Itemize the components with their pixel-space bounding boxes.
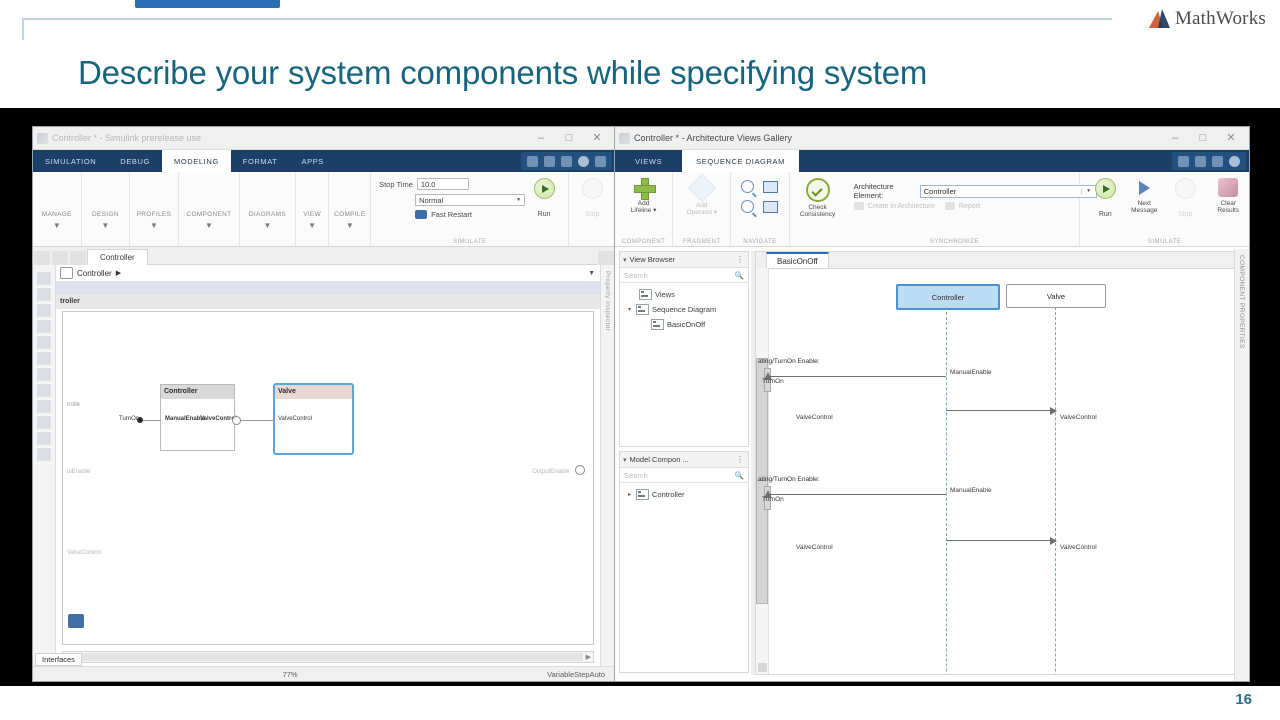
search-icon[interactable]: 🔍 — [735, 271, 744, 280]
message-manualenable-1[interactable] — [768, 376, 946, 377]
port-icon[interactable] — [37, 320, 51, 333]
undo-icon[interactable] — [1195, 156, 1206, 167]
stop-icon — [582, 178, 603, 199]
stop-label: Stop — [1178, 211, 1192, 218]
chevron-down-icon[interactable]: ▼ — [264, 221, 272, 230]
collapse-icon[interactable]: ▾ — [623, 456, 627, 464]
minimize-icon[interactable]: – — [535, 133, 547, 144]
status-solver: VariableStepAuto — [547, 670, 615, 679]
input-port-marker — [137, 417, 143, 423]
quick-access-toolbar[interactable] — [521, 152, 612, 170]
avg-ribbon-tabs: VIEWS SEQUENCE DIAGRAM — [615, 150, 1249, 172]
breadcrumb[interactable]: Controller ▶ ▼ — [56, 265, 600, 282]
wire-mid — [235, 420, 275, 421]
model-components-panel: ▾ Model Compon ... ⋮ Search 🔍 ▸ Controll… — [619, 451, 749, 673]
slide-top-rule-vertical — [22, 18, 24, 40]
annotation-1: ating/TurnOn Enable: — [758, 358, 820, 365]
ribbon-group-manage-label: MANAGE — [42, 211, 72, 218]
play-icon — [1095, 178, 1116, 199]
simulink-ribbon-tabs: SIMULATION DEBUG MODELING FORMAT APPS — [33, 150, 615, 172]
slide-top-accent-tab — [135, 0, 280, 8]
chevron-down-icon[interactable]: ▼ — [150, 221, 158, 230]
ribbon-group-simulate: Run Next Message Stop Clear Results SIMU… — [1080, 172, 1249, 246]
tree-item-controller[interactable]: ▸ Controller — [623, 487, 745, 502]
tree-item-views[interactable]: Views — [623, 287, 745, 302]
ribbon-group-diagrams[interactable]: DIAGRAMS ▼ — [240, 172, 296, 246]
status-zoom: 77% — [283, 670, 298, 679]
chevron-down-icon[interactable]: ▼ — [308, 221, 316, 230]
run-button[interactable]: Run — [527, 178, 561, 218]
avg-title-text: Controller * - Architecture Views Galler… — [634, 133, 792, 143]
slide-top-rule — [22, 18, 1112, 20]
synchronize-actions: Create in Architecture Report — [854, 202, 980, 210]
slide-root: MathWorks Describe your system component… — [0, 0, 1280, 720]
stop-button[interactable]: Stop — [575, 178, 609, 218]
collapse-icon[interactable]: ▾ — [623, 256, 627, 264]
message-manualenable-2[interactable] — [768, 494, 946, 495]
simulate-group-label: SIMULATE — [371, 239, 568, 245]
architecture-element-label: Architecture Element: — [854, 182, 917, 200]
message-label-turnon-1: TurnOn — [762, 378, 784, 385]
avg-body: ▾ View Browser ⋮ Search 🔍 Views ▾ — [615, 249, 1249, 681]
canvas-left-label: trolle — [67, 402, 80, 408]
component-properties-label: COMPONENT PROPERTIES — [1238, 255, 1245, 349]
tab-format[interactable]: FORMAT — [231, 150, 290, 172]
block-controller-title: Controller — [161, 385, 234, 399]
simulink-app-icon — [37, 133, 48, 144]
simulink-ribbon: MANAGE ▼ DESIGN ▼ PROFILES ▼ COMPONENT ▼… — [33, 172, 615, 247]
ribbon-group-component: Add Lifeline ▾ COMPONENT — [615, 172, 673, 246]
close-icon[interactable]: ✕ — [591, 133, 603, 144]
block-valve-title: Valve — [275, 385, 352, 399]
scroll-right-icon[interactable]: ▶ — [586, 653, 591, 661]
maximize-icon[interactable]: □ — [563, 133, 575, 144]
message-label-turnon-2: TurnOn — [762, 496, 784, 503]
canvas-stray-label-1: uiEnable — [67, 469, 90, 475]
fit-to-view-icon[interactable] — [37, 272, 51, 285]
resize-handle[interactable] — [758, 663, 767, 672]
view-browser-search-placeholder: Search — [624, 271, 648, 280]
canvas-inner-frame: Controller Valve TurnOn ManualEnable Val… — [62, 311, 594, 645]
lifeline-valve-line — [1055, 307, 1056, 675]
check-consistency-button[interactable]: Check Consistency — [790, 174, 846, 219]
stop-time-row: Stop Time 10.0 — [379, 178, 469, 190]
clear-results-icon — [1218, 178, 1238, 197]
clear-results-label: Clear Results — [1217, 200, 1239, 215]
clear-results-button[interactable]: Clear Results — [1208, 178, 1248, 215]
save-icon[interactable] — [527, 156, 538, 167]
component-icon — [636, 489, 649, 500]
diamond-icon — [688, 174, 716, 202]
sequence-diagram-icon — [636, 304, 649, 315]
ribbon-group-component[interactable]: COMPONENT ▼ — [179, 172, 240, 246]
simulink-window: Controller * - Simulink prerelease use –… — [32, 126, 616, 682]
next-message-button[interactable]: Next Message — [1124, 178, 1164, 215]
wire-in — [143, 420, 161, 421]
message-valvecontrol-2[interactable] — [946, 540, 1056, 541]
stop-time-label: Stop Time — [379, 180, 413, 189]
tree-item-basiconoff[interactable]: BasicOnOff — [623, 317, 745, 332]
breadcrumb-label: Controller — [77, 269, 112, 278]
tree-item-sequence-diagram[interactable]: ▾ Sequence Diagram — [623, 302, 745, 317]
mathworks-logo: MathWorks — [1148, 8, 1266, 30]
maximize-icon[interactable]: □ — [1197, 133, 1209, 144]
message-valvecontrol-1[interactable] — [946, 410, 1056, 411]
architecture-element-value: Controller — [924, 187, 1081, 196]
help-icon[interactable] — [595, 156, 606, 167]
ribbon-group-simulate: Stop Time 10.0 Normal Fast Restart Run S… — [371, 172, 569, 246]
lifeline-valve[interactable]: Valve — [1006, 284, 1106, 308]
tab-sequence-diagram[interactable]: SEQUENCE DIAGRAM — [682, 150, 799, 172]
message-label-manualenable-2: ManualEnable — [950, 487, 992, 494]
fit-to-view-icon[interactable] — [763, 181, 778, 193]
scroll-thumb[interactable] — [73, 653, 582, 661]
chevron-down-icon[interactable]: ▾ — [626, 306, 633, 313]
next-message-icon — [1135, 178, 1154, 197]
ribbon-group-synchronize: Check Consistency Architecture Element: … — [790, 172, 1081, 246]
state-icon[interactable] — [37, 352, 51, 365]
fast-restart-toggle[interactable]: Fast Restart — [415, 210, 472, 219]
simulink-status-bar: 77% VariableStepAuto — [33, 666, 615, 681]
run-label: Run — [538, 211, 551, 218]
ribbon-group-profiles[interactable]: PROFILES ▼ — [130, 172, 179, 246]
property-inspector-label: Property Inspector — [604, 271, 611, 331]
redo-icon[interactable] — [561, 156, 572, 167]
ribbon-group-diagrams-label: DIAGRAMS — [249, 211, 286, 218]
zoom-icon[interactable] — [37, 288, 51, 301]
model-icon — [60, 267, 73, 279]
tab-modeling[interactable]: MODELING — [162, 150, 231, 172]
port-label-valvecontrol-in: ValveControl — [278, 416, 312, 422]
zoom-out-icon[interactable] — [741, 200, 754, 213]
redo-icon[interactable] — [1212, 156, 1223, 167]
undo-icon[interactable] — [544, 156, 555, 167]
view-browser-tree: Views ▾ Sequence Diagram BasicOnOff — [620, 283, 748, 336]
component-group-label: COMPONENT — [615, 239, 672, 245]
component-properties-rail[interactable]: COMPONENT PROPERTIES — [1234, 249, 1249, 681]
simulink-title-text: Controller * - Simulink prerelease use — [52, 133, 201, 143]
create-in-architecture-icon[interactable] — [854, 202, 864, 210]
add-lifeline-label: Add Lifeline ▾ — [631, 200, 657, 215]
check-consistency-label: Check Consistency — [800, 204, 835, 219]
arrow-head-icon — [1050, 407, 1057, 415]
message-label-valvecontrol-2b: ValveControl — [1060, 544, 1097, 551]
message-label-valvecontrol-1a: ValveControl — [796, 414, 833, 421]
canvas-stray-label-3: OutputEnable — [532, 469, 569, 475]
ribbon-group-design[interactable]: DESIGN ▼ — [82, 172, 131, 246]
navigate-buttons — [741, 180, 778, 213]
architecture-views-gallery-window: Controller * - Architecture Views Galler… — [614, 126, 1250, 682]
ribbon-group-compile[interactable]: COMPILE ▼ — [329, 172, 371, 246]
add-lifeline-button[interactable]: Add Lifeline ▾ — [621, 174, 667, 215]
chevron-down-icon[interactable]: ▼ — [205, 221, 213, 230]
stop-icon — [1175, 178, 1196, 199]
tab-debug[interactable]: DEBUG — [108, 150, 162, 172]
fast-restart-label: Fast Restart — [431, 210, 472, 219]
metrics-icon[interactable] — [37, 448, 51, 461]
lifeline-controller-label: Controller — [932, 293, 965, 302]
message-label-manualenable-1: ManualEnable — [950, 369, 992, 376]
mathworks-membrane-icon — [1148, 8, 1170, 30]
view-icon — [639, 289, 652, 300]
ribbon-group-fragment: Add Operand ▾ FRAGMENT — [673, 172, 731, 246]
ribbon-tab-spacer — [799, 150, 1172, 172]
ribbon-tab-spacer — [336, 150, 521, 172]
analysis-icon[interactable] — [37, 432, 51, 445]
close-icon[interactable]: ✕ — [1225, 133, 1237, 144]
minimize-icon[interactable]: – — [1169, 133, 1181, 144]
tree-item-controller-label: Controller — [652, 490, 685, 499]
tree-item-views-label: Views — [655, 290, 675, 299]
canvas-wrapper: Controller ▶ ▼ troller Controller V — [56, 265, 600, 667]
chevron-down-icon[interactable]: ▼ — [588, 270, 595, 277]
lifeline-controller[interactable]: Controller — [896, 284, 1000, 310]
sequence-diagram-tab-basiconoff[interactable]: BasicOnOff — [766, 252, 829, 268]
simulation-mode-select[interactable]: Normal — [415, 194, 525, 206]
variant-icon[interactable] — [37, 368, 51, 381]
more-options-icon[interactable]: ⋮ — [736, 255, 745, 264]
ribbon-group-stop: Stop — [569, 172, 615, 246]
avg-title-bar: Controller * - Architecture Views Galler… — [615, 127, 1249, 150]
canvas-horizontal-scrollbar[interactable]: ◀ ▶ — [62, 651, 594, 663]
architecture-element-row: Architecture Element: Controller ▼ — [854, 182, 1097, 200]
lifeline-controller-line — [946, 307, 947, 675]
report-icon[interactable] — [945, 202, 955, 210]
simulation-mode-value: Normal — [419, 196, 443, 205]
slide-number: 16 — [1235, 691, 1252, 708]
canvas-subheader: troller — [56, 295, 600, 309]
ribbon-group-compile-label: COMPILE — [334, 211, 365, 218]
next-message-label: Next Message — [1131, 200, 1157, 215]
model-tab-strip: Controller — [33, 247, 615, 266]
back-icon[interactable] — [34, 251, 50, 265]
message-label-valvecontrol-2a: ValveControl — [796, 544, 833, 551]
simulink-canvas[interactable]: troller Controller Valve TurnOn ManualEn… — [56, 281, 600, 667]
up-icon[interactable] — [70, 251, 86, 265]
ribbon-group-profiles-label: PROFILES — [137, 211, 172, 218]
interface-icon[interactable] — [37, 336, 51, 349]
view-browser-title: View Browser — [630, 255, 676, 264]
more-options-icon[interactable]: ⋮ — [736, 455, 745, 464]
fast-restart-icon — [415, 210, 427, 219]
stop-label: Stop — [585, 211, 599, 218]
editor-toolstrip-left — [33, 265, 56, 667]
interfaces-tab[interactable]: Interfaces — [35, 653, 82, 666]
sequence-diagram-canvas[interactable]: BasicOnOff Controller Valve ating/ — [755, 251, 1247, 675]
lifeline-valve-label: Valve — [1047, 292, 1065, 301]
navigate-group-label: NAVIGATE — [731, 239, 788, 245]
simulink-editor-body: Controller ▶ ▼ troller Controller V — [33, 265, 615, 667]
output-port-marker — [232, 416, 241, 425]
layout-icon[interactable] — [598, 251, 614, 265]
sequence-diagram-icon[interactable] — [37, 384, 51, 397]
check-circle-icon — [806, 178, 830, 202]
canvas-header-band — [56, 281, 600, 295]
ribbon-group-navigate: NAVIGATE — [731, 172, 789, 246]
tree-item-sequence-diagram-label: Sequence Diagram — [652, 305, 716, 314]
run-button[interactable]: Run — [1088, 178, 1122, 218]
avg-app-icon — [619, 133, 630, 144]
mathworks-wordmark: MathWorks — [1175, 8, 1266, 30]
view-browser-search[interactable]: Search 🔍 — [620, 268, 748, 283]
fragment-group-label: FRAGMENT — [673, 239, 730, 245]
quick-access-toolbar[interactable] — [1172, 152, 1246, 170]
breadcrumb-caret-icon[interactable]: ▶ — [116, 269, 121, 277]
scope-icon[interactable] — [68, 614, 84, 628]
tab-apps[interactable]: APPS — [290, 150, 336, 172]
page-title: Describe your system components while sp… — [78, 52, 1128, 94]
view-browser-panel: ▾ View Browser ⋮ Search 🔍 Views ▾ — [619, 251, 749, 447]
output-port-marker-right — [575, 465, 585, 475]
property-inspector-rail[interactable]: Property Inspector — [600, 265, 615, 667]
ribbon-group-component-label: COMPONENT — [186, 211, 231, 218]
add-operand-button[interactable]: Add Operand ▾ — [679, 174, 725, 217]
zoom-in-icon[interactable] — [741, 180, 754, 193]
simulink-title-bar: Controller * - Simulink prerelease use –… — [33, 127, 615, 150]
avg-ribbon: Add Lifeline ▾ COMPONENT Add Operand ▾ F… — [615, 172, 1249, 247]
stop-time-input[interactable]: 10.0 — [417, 178, 469, 190]
annotation-2: ating/TurnOn Enable: — [758, 476, 820, 483]
save-icon[interactable] — [1178, 156, 1189, 167]
tree-item-basiconoff-label: BasicOnOff — [667, 320, 705, 329]
view-browser-header[interactable]: ▾ View Browser ⋮ — [620, 252, 748, 268]
search-icon[interactable]: 🔍 — [735, 471, 744, 480]
stop-button[interactable]: Stop — [1168, 178, 1202, 218]
run-label: Run — [1099, 211, 1112, 218]
forward-icon[interactable] — [52, 251, 68, 265]
model-tab-controller[interactable]: Controller — [87, 249, 148, 265]
arrow-head-icon — [1050, 537, 1057, 545]
ribbon-group-view-label: VIEW — [303, 211, 321, 218]
model-components-search-placeholder: Search — [624, 471, 648, 480]
canvas-stray-label-2: ValveControl — [67, 550, 101, 556]
chevron-down-icon[interactable]: ▼ — [101, 221, 109, 230]
ribbon-group-manage[interactable]: MANAGE ▼ — [33, 172, 82, 246]
model-components-search[interactable]: Search 🔍 — [620, 468, 748, 483]
reference-component-icon[interactable] — [37, 304, 51, 317]
avg-window-controls[interactable]: – □ ✕ — [1169, 133, 1245, 144]
model-components-tree: ▸ Controller — [620, 483, 748, 506]
chevron-down-icon[interactable]: ▼ — [53, 221, 61, 230]
ribbon-group-design-label: DESIGN — [92, 211, 119, 218]
create-in-architecture-label[interactable]: Create in Architecture — [868, 203, 935, 210]
search-icon[interactable] — [578, 156, 589, 167]
chevron-right-icon[interactable]: ▸ — [626, 491, 633, 498]
ribbon-group-view[interactable]: VIEW ▼ — [296, 172, 330, 246]
tab-views[interactable]: VIEWS — [615, 150, 682, 172]
plus-icon — [634, 178, 654, 198]
diagram-icon — [651, 319, 664, 330]
model-components-title: Model Compon ... — [630, 455, 689, 464]
fit-to-window-icon[interactable] — [763, 201, 778, 213]
synchronize-group-label: SYNCHRONIZE — [830, 239, 1080, 245]
architecture-element-select[interactable]: Controller ▼ — [920, 185, 1097, 198]
simulink-window-controls[interactable]: – □ ✕ — [535, 133, 611, 144]
message-label-valvecontrol-1b: ValveControl — [1060, 414, 1097, 421]
tab-simulation[interactable]: SIMULATION — [33, 150, 108, 172]
report-label[interactable]: Report — [959, 203, 980, 210]
model-components-header[interactable]: ▾ Model Compon ... ⋮ — [620, 452, 748, 468]
requirements-icon[interactable] — [37, 400, 51, 413]
simulate-group-label: SIMULATE — [1080, 239, 1249, 245]
sequence-diagram-tab-strip: BasicOnOff — [756, 252, 1246, 269]
chevron-down-icon[interactable]: ▼ — [346, 221, 354, 230]
play-icon — [534, 178, 555, 199]
help-icon[interactable] — [1229, 156, 1240, 167]
annotation-icon[interactable] — [37, 416, 51, 429]
add-operand-label: Add Operand ▾ — [687, 202, 717, 217]
